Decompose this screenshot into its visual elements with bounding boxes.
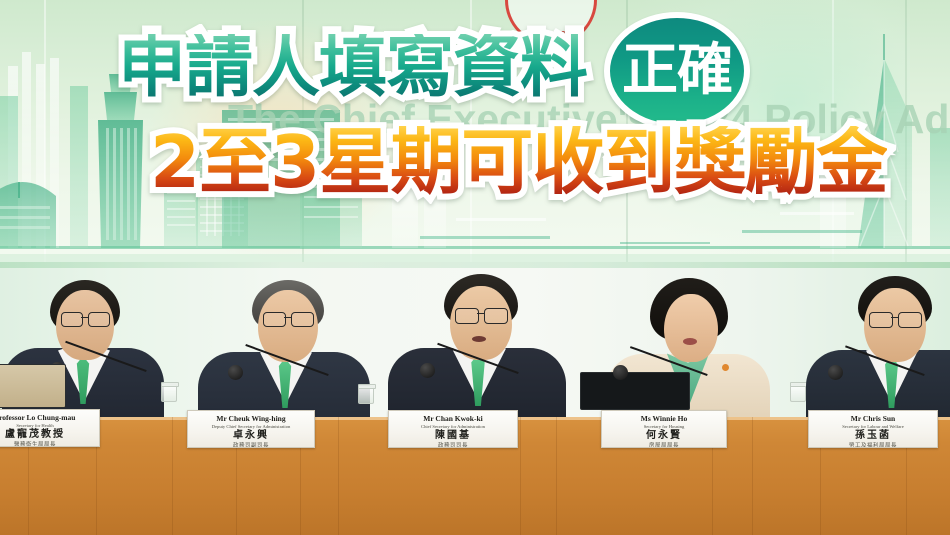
nameplate-chinese-title: 勞工及福利局局長: [811, 442, 935, 448]
eyeglasses-right-lens: [898, 312, 922, 328]
nameplate-english-name: Professor Lo Chung-mau: [0, 413, 97, 422]
water-glass: [790, 384, 806, 402]
nameplate-english-name: Mr Chan Kwok-ki: [391, 414, 515, 423]
lapel-pin: [722, 364, 729, 371]
nameplate-chris-sun: Mr Chris Sun Secretary for Labour and We…: [808, 410, 938, 448]
laptop: [580, 372, 690, 410]
nameplate-english-name: Mr Cheuk Wing-hing: [190, 414, 312, 423]
eyeglasses-bridge: [284, 317, 291, 318]
nameplate-chan-kwok-ki: Mr Chan Kwok-ki Chief Secretary for Admi…: [388, 410, 518, 448]
water-glass-lid: [161, 382, 179, 387]
eyeglasses-right-lens: [291, 312, 314, 327]
nameplate-chinese-name: 卓永興: [190, 430, 312, 442]
background-text-chinese: 告: [690, 42, 730, 97]
nameplate-lo-chung-mau: Professor Lo Chung-mau Secretary for Hea…: [0, 409, 100, 447]
nameplate-english-title: Secretary for Labour and Welfare: [811, 423, 935, 430]
eyeglasses-left-lens: [869, 312, 893, 328]
eyeglasses-left-lens: [61, 312, 83, 327]
nameplate-chinese-title: 醫務衞生局局長: [0, 441, 97, 447]
emblem-label: HONG KONG: [508, 30, 594, 39]
nameplate-chinese-name: 陳國基: [391, 430, 515, 442]
desk-panel-seam: [338, 417, 339, 535]
news-image-card: HONG KONG 告 The Chief Executive's 2024 P…: [0, 0, 950, 535]
microphone-head: [828, 365, 843, 380]
backdrop-band: [0, 262, 950, 268]
press-conference-photo: Professor Lo Chung-mau Secretary for Hea…: [0, 262, 950, 535]
desk-panel-seam: [752, 417, 753, 535]
desk-panel-seam: [556, 417, 557, 535]
eyeglasses-bridge: [477, 313, 484, 314]
nameplate-chinese-title: 房屋局局長: [604, 442, 724, 448]
eyeglasses-right-lens: [484, 308, 508, 324]
eyeglasses-bridge: [891, 317, 898, 318]
mouth: [683, 338, 697, 345]
eyeglasses-right-lens: [88, 312, 110, 327]
microphone-head: [228, 365, 243, 380]
nameplate-chinese-name: 盧寵茂教授: [0, 429, 97, 441]
nameplate-chinese-title: 政務司副司長: [190, 442, 312, 448]
water-glass-lid: [358, 384, 376, 389]
nameplate-english-title: Chief Secretary for Administration: [391, 423, 515, 430]
headline-banner: HONG KONG 告 The Chief Executive's 2024 P…: [0, 0, 950, 262]
eyeglasses-bridge: [81, 317, 88, 318]
document-folder: [0, 364, 66, 408]
nameplate-english-title: Secretary for Health: [0, 422, 97, 429]
water-glass: [358, 386, 374, 404]
nameplate-english-name: Ms Winnie Ho: [604, 414, 724, 423]
microphone-head: [420, 363, 435, 378]
desk-panel-seam: [172, 417, 173, 535]
nameplate-chinese-title: 政務司司長: [391, 442, 515, 448]
eyeglasses-left-lens: [263, 312, 286, 327]
eyeglasses-left-lens: [455, 308, 479, 324]
nameplate-english-title: Deputy Chief Secretary for Administratio…: [190, 423, 312, 430]
nameplate-english-name: Mr Chris Sun: [811, 414, 935, 423]
face: [664, 294, 718, 362]
nameplate-chinese-name: 孫玉菡: [811, 430, 935, 442]
microphone-head: [613, 365, 628, 380]
mouth: [472, 336, 486, 342]
nameplate-chinese-name: 何永賢: [604, 430, 724, 442]
water-glass: [161, 384, 177, 402]
nameplate-cheuk-wing-hing: Mr Cheuk Wing-hing Deputy Chief Secretar…: [187, 410, 315, 448]
background-text-english: The Chief Executive's 2024 Policy Addres…: [228, 96, 948, 143]
desk-panel-seam: [520, 417, 521, 535]
nameplate-winnie-ho: Ms Winnie Ho Secretary for Housing 何永賢 房…: [601, 410, 727, 448]
nameplate-english-title: Secretary for Housing: [604, 423, 724, 430]
